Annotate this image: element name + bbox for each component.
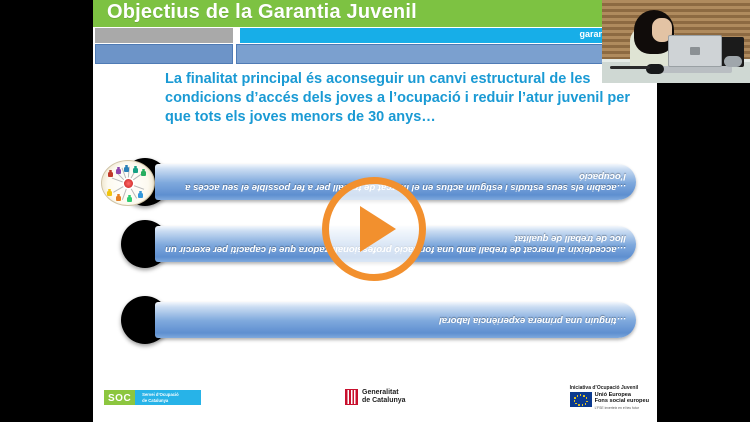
- slide-headline: La finalitat principal és aconseguir un …: [165, 70, 635, 127]
- webcam-laptop: [668, 35, 722, 67]
- play-triangle-icon: [360, 206, 396, 252]
- generalitat-text: Generalitat de Catalunya: [362, 389, 406, 406]
- webcam-desk-items: [658, 66, 732, 73]
- soc-logo: SOC Servei d’Ocupació de Catalunya: [104, 390, 201, 405]
- slide-title-band: Objectius de la Garantia Juvenil: [93, 0, 657, 27]
- objective-text-3: …tinguin una primera experiència laboral: [439, 314, 626, 326]
- eu-line-2: Fons social europeu: [595, 398, 649, 404]
- webcam-cable: [610, 66, 650, 69]
- generalitat-logo: Generalitat de Catalunya: [345, 389, 406, 406]
- catalonia-shield-icon: [345, 389, 358, 405]
- webcam-mouse: [724, 56, 742, 67]
- eu-line-3: L’FSE inverteix en el teu futur: [595, 405, 649, 411]
- generalitat-line-2: de Catalunya: [362, 397, 406, 405]
- soc-acronym: SOC: [104, 390, 135, 405]
- video-frame: Objectius de la Garantia Juvenil garanti…: [0, 0, 750, 422]
- play-button[interactable]: [322, 177, 426, 281]
- header-strip-secondary: [93, 44, 657, 64]
- eu-text: Unió Europea Fons social europeu L’FSE i…: [595, 392, 649, 411]
- objective-row-3: …tinguin una primera experiència laboral: [93, 296, 657, 344]
- header-blue-block-right: [236, 44, 657, 64]
- soc-subtitle: Servei d’Ocupació de Catalunya: [135, 390, 201, 405]
- slide-footer: SOC Servei d’Ocupació de Catalunya Gener…: [93, 382, 657, 422]
- eu-caption: Iniciativa d’Ocupació Juvenil: [570, 385, 649, 391]
- page-title: Objectius de la Garantia Juvenil: [107, 1, 417, 24]
- header-grey-block: [95, 28, 233, 43]
- header-strip: garantiajuvenil.g: [93, 28, 657, 43]
- generalitat-line-1: Generalitat: [362, 389, 406, 397]
- eu-flag-icon: [570, 392, 592, 407]
- presenter-webcam-feed[interactable]: [602, 0, 750, 83]
- soc-line-2: de Catalunya: [142, 398, 196, 403]
- people-network-icon: [101, 160, 155, 206]
- objective-bar-3: …tinguin una primera experiència laboral: [155, 302, 636, 338]
- header-blue-block-left: [95, 44, 233, 64]
- header-cyan-block: garantiajuvenil.g: [240, 28, 657, 43]
- eu-logo: Iniciativa d’Ocupació Juvenil: [570, 385, 649, 411]
